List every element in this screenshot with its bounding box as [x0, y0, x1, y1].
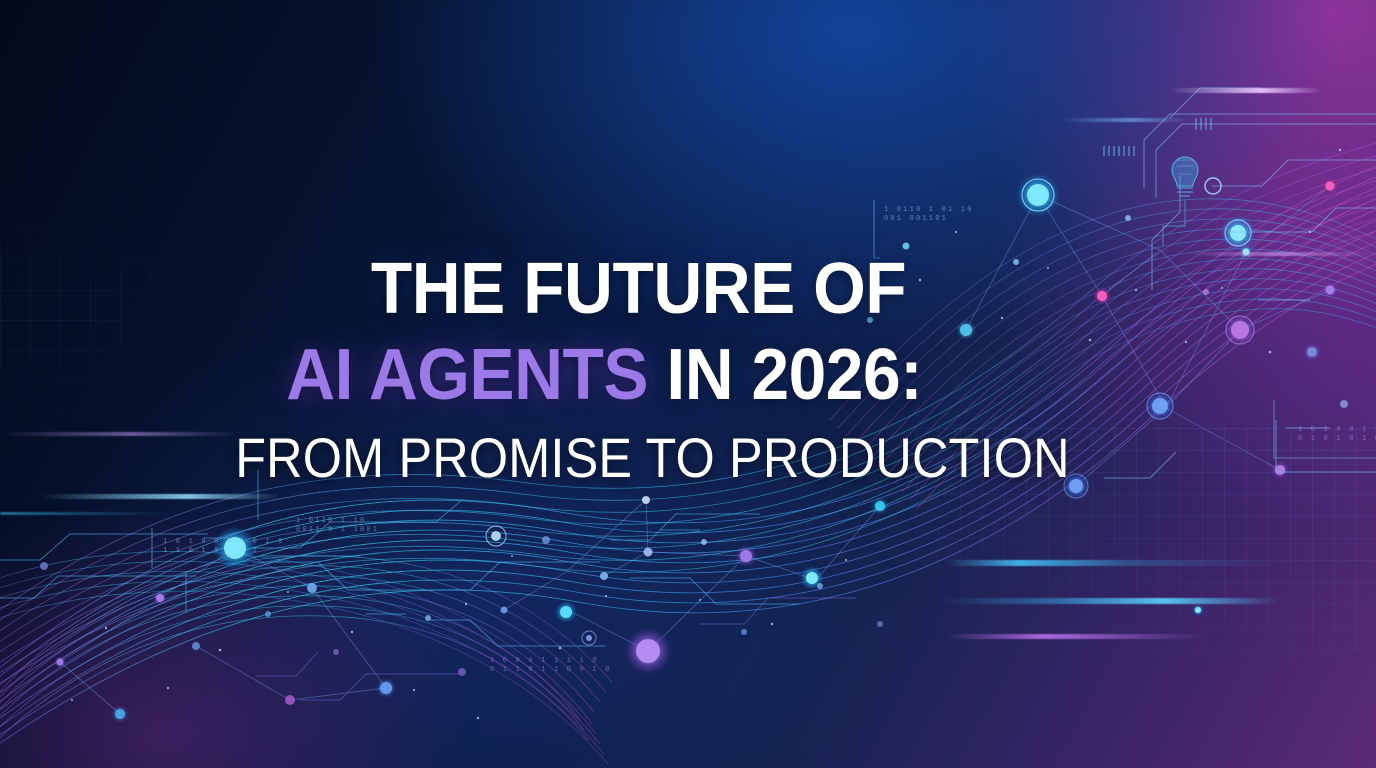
- title-slide-hero: 1 0110 1 01 10001 001101 1 0 1 0 0 1 1 0…: [0, 0, 1376, 768]
- streak-mid-left-cyan: [0, 512, 170, 515]
- binary-text-left-mid: 1 0110 1 100011 0 1 1001: [296, 517, 379, 535]
- slide-title-block: THE FUTURE OF AI AGENTS IN 2026: FROM PR…: [228, 246, 1188, 494]
- binary-text-top-center: 1 0110 1 01 10001 001101: [884, 206, 974, 224]
- title-line-1: THE FUTURE OF: [228, 246, 1130, 332]
- streak-bottom-right-cyan-1: [946, 560, 1276, 566]
- binary-text-left-circuit: 1 0 1 0 0 1 1 0 1 01 1 0 1 0 0 1 1: [163, 538, 285, 556]
- title-line-2: AI AGENTS IN 2026:: [228, 332, 1130, 418]
- binary-text-right-low: 1 0 1 0 0 1 1 0 10 1 0 1 0 1 0 1 1 0 1: [1298, 426, 1376, 444]
- circuit-traces-left: [0, 470, 800, 646]
- streak-top-right-blue: [1060, 118, 1190, 122]
- binary-text-center-low: 1 0 0 0 1 1 1 1 00 1 1 0 1 1 0 0 1 0: [490, 657, 612, 675]
- title-subtitle: FROM PROMISE TO PRODUCTION: [228, 422, 1092, 494]
- tick-marks: [1104, 118, 1211, 156]
- streak-left-violet: [0, 432, 240, 436]
- streak-top-right-violet: [1168, 88, 1323, 93]
- title-line-2-rest: IN 2026:: [648, 335, 922, 415]
- streak-left-cyan: [40, 494, 280, 499]
- circuit-ring-node: [1205, 178, 1221, 194]
- streak-bottom-right-cyan-2: [940, 598, 1280, 604]
- streak-right-violet: [1186, 252, 1376, 256]
- lightbulb-icon-group: [1163, 157, 1198, 246]
- streak-bottom-right-violet: [946, 634, 1206, 639]
- title-accent-ai-agents: AI AGENTS: [286, 335, 648, 415]
